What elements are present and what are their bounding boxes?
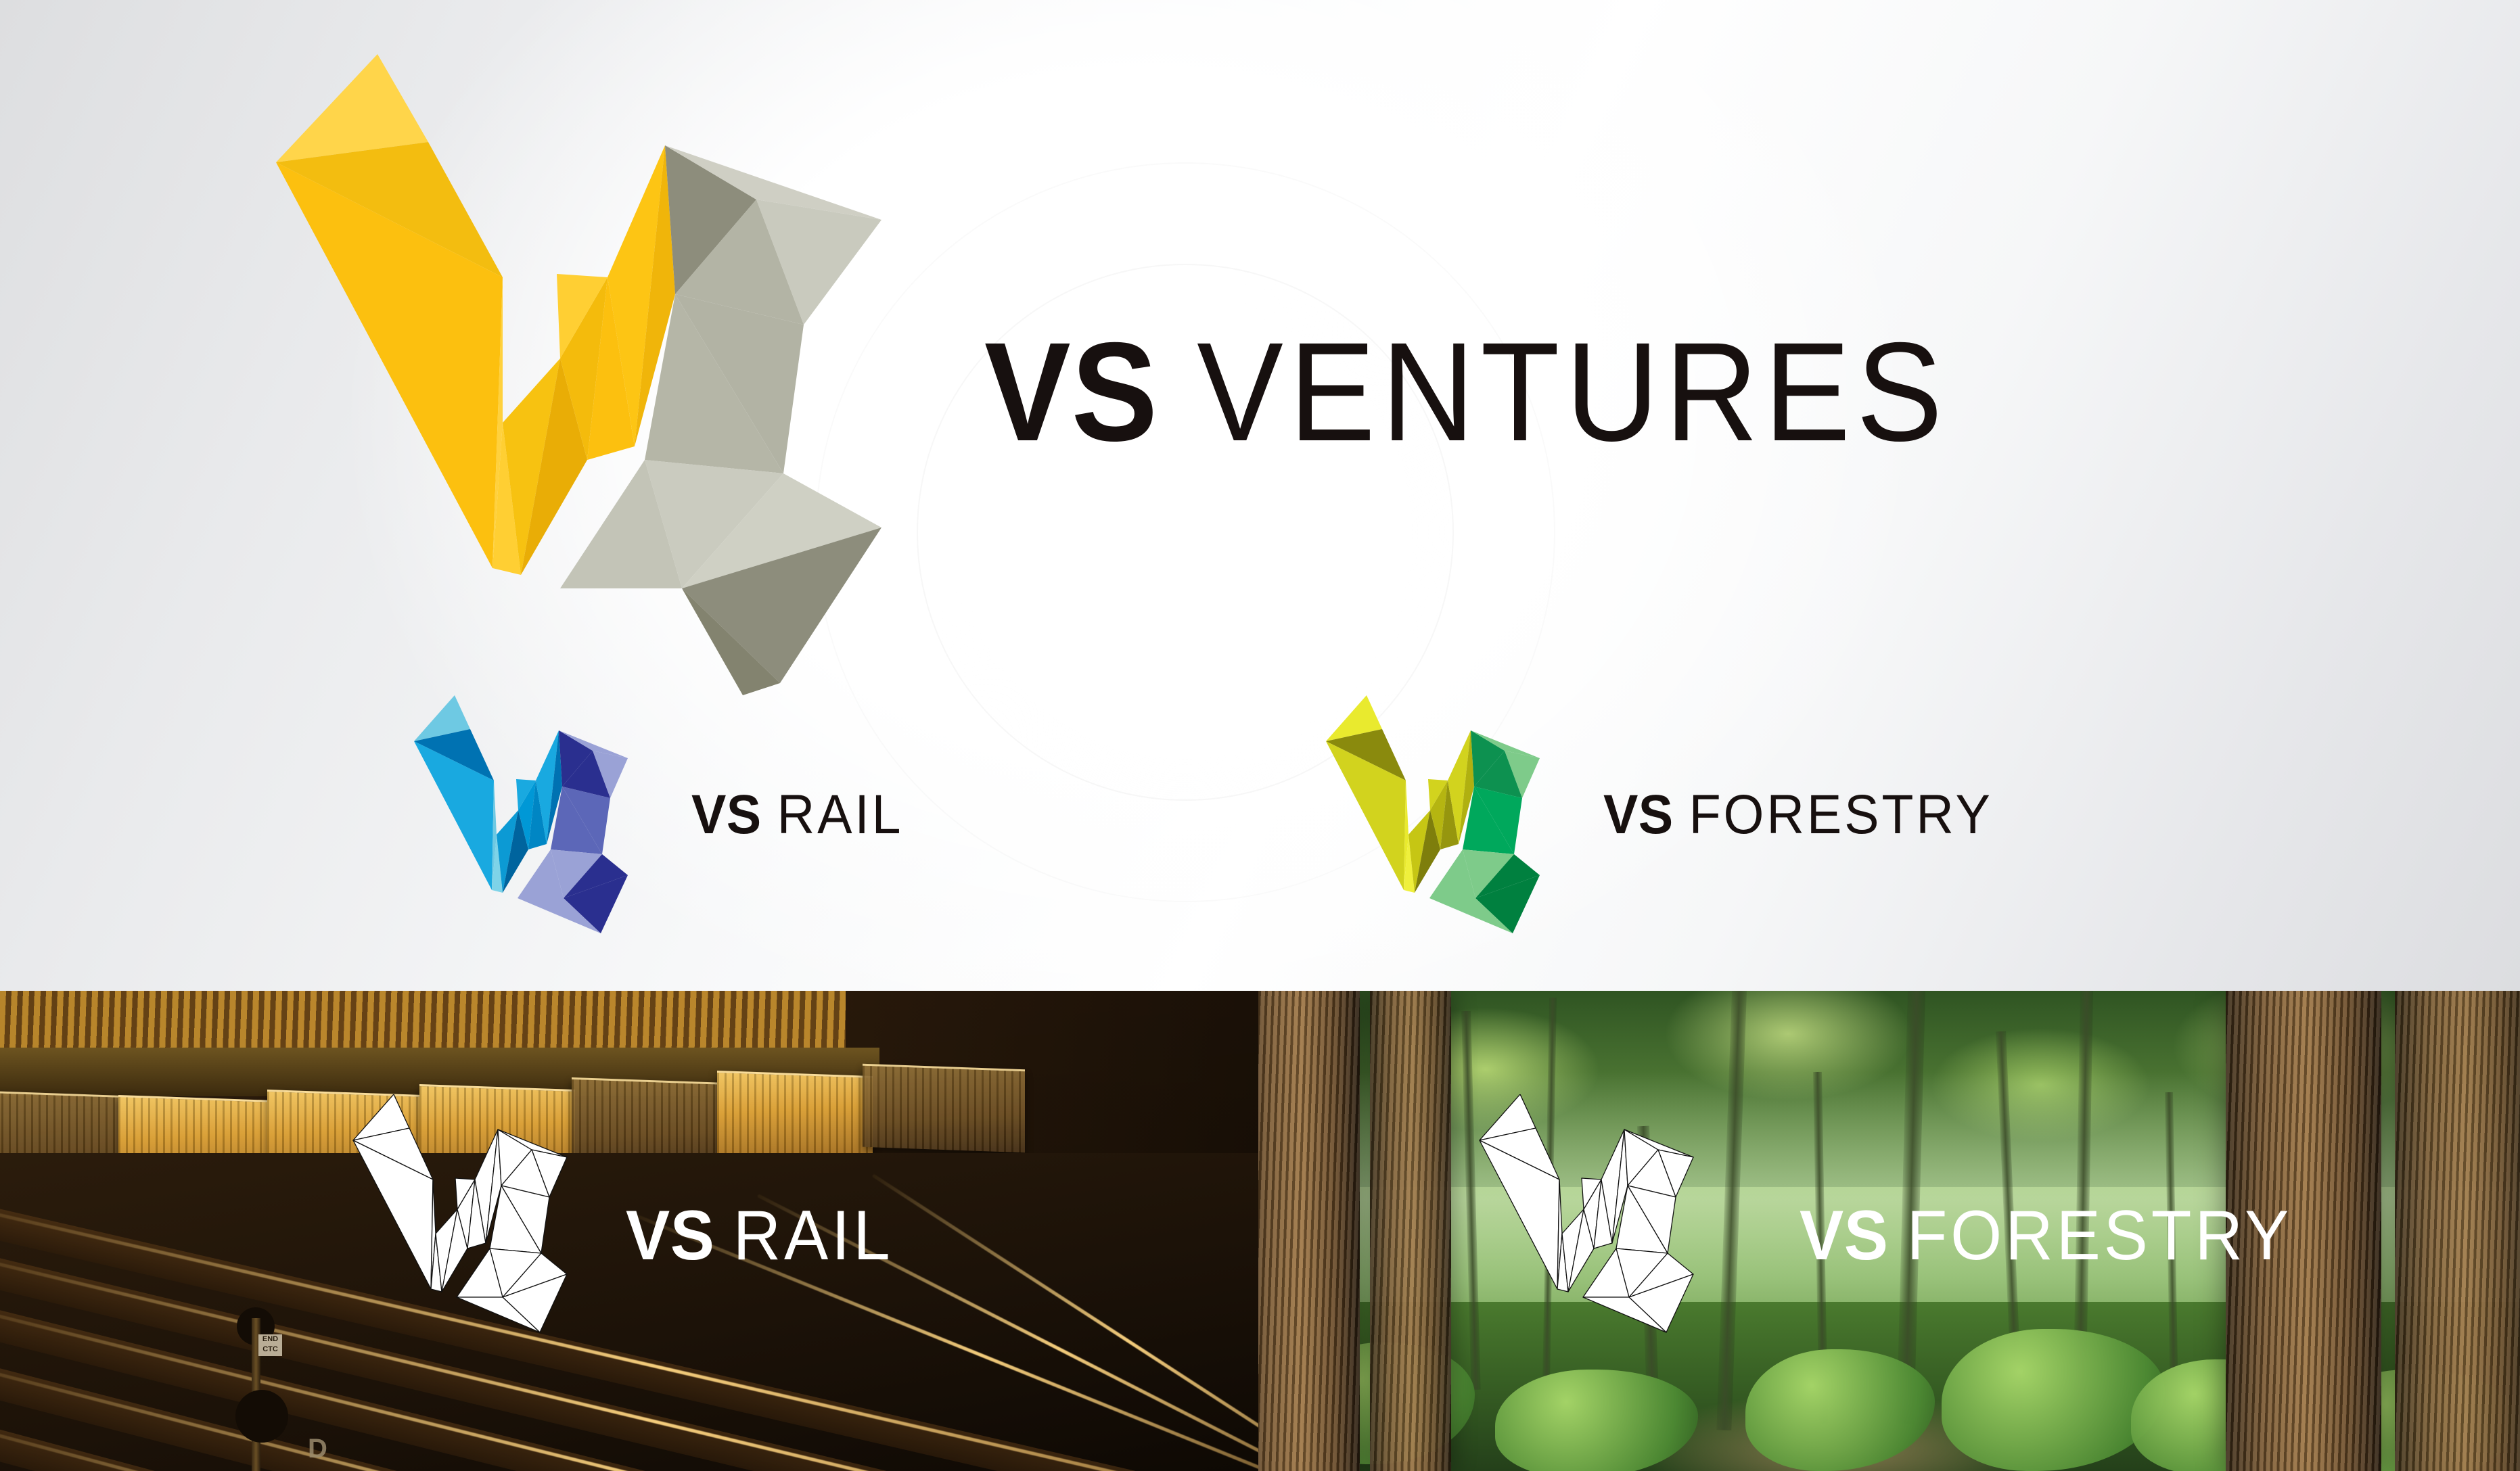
vs-forestry-outline-mark[interactable] xyxy=(1471,1094,1695,1338)
vs-forestry-photo-name: FORESTRY xyxy=(1907,1196,2293,1275)
understory-bush xyxy=(1495,1370,1698,1471)
vs-forestry-name: FORESTRY xyxy=(1689,784,1993,845)
vs-forestry-wordmark: VS FORESTRY xyxy=(1603,787,1993,843)
vs-ventures-name: VENTURES xyxy=(1197,314,1948,471)
vs-rail-logo-mark[interactable] xyxy=(406,695,629,939)
milepost-marker: D xyxy=(308,1434,327,1464)
end-ctc-line2: CTC xyxy=(262,1345,278,1353)
vs-rail-name: RAIL xyxy=(777,784,904,845)
brand-board: VS VENTURES VS RAI xyxy=(0,0,2520,1471)
foreground-trunk xyxy=(1258,991,1360,1471)
end-ctc-sign: ENDCTC xyxy=(258,1334,282,1356)
header-panel: VS VENTURES VS RAI xyxy=(0,0,2520,991)
boxcar xyxy=(863,1064,1025,1152)
vs-rail-wordmark: VS RAIL xyxy=(691,787,903,843)
signal-head-icon xyxy=(235,1390,288,1443)
boxcar xyxy=(717,1071,873,1162)
foreground-trunk xyxy=(1370,991,1451,1471)
vs-forestry-prefix: VS xyxy=(1603,784,1674,845)
end-ctc-line1: END xyxy=(262,1335,278,1343)
vs-rail-photo-wordmark: VS RAIL xyxy=(626,1200,893,1271)
vs-rail-photo-name: RAIL xyxy=(733,1196,894,1275)
foreground-trunk xyxy=(2395,991,2520,1471)
far-boxcar-row xyxy=(0,991,846,1049)
vs-forestry-logo-mark[interactable] xyxy=(1318,695,1541,939)
vs-forestry-photo-prefix: VS xyxy=(1800,1196,1888,1275)
vs-ventures-logo-mark[interactable] xyxy=(269,54,885,697)
vs-ventures-prefix: VS xyxy=(984,314,1158,471)
vs-rail-prefix: VS xyxy=(691,784,762,845)
vs-rail-outline-mark[interactable] xyxy=(345,1094,568,1338)
vs-ventures-wordmark: VS VENTURES xyxy=(984,322,1948,463)
vs-rail-photo-prefix: VS xyxy=(626,1196,714,1275)
vs-forestry-photo-wordmark: VS FORESTRY xyxy=(1800,1200,2292,1271)
